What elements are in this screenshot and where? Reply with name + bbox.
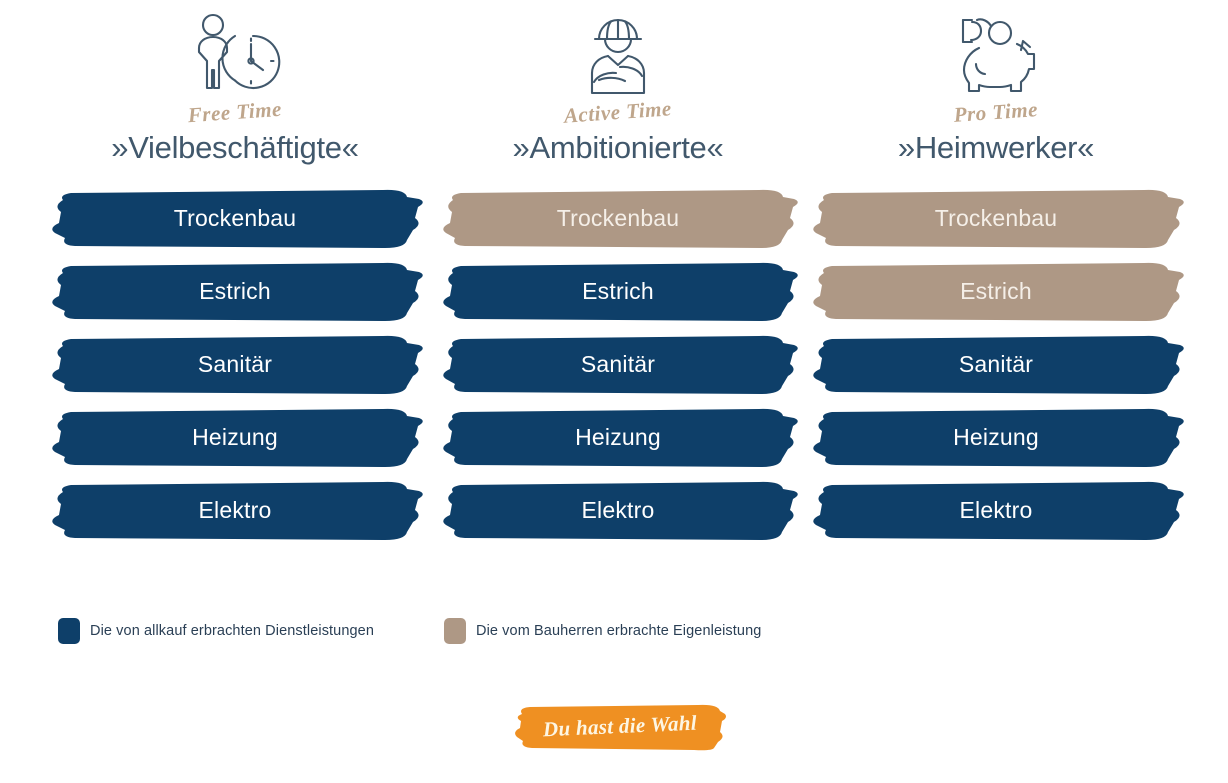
service-bar[interactable]: Heizung [437,407,799,470]
service-bar[interactable]: Estrich [45,261,425,324]
service-bar-label: Heizung [806,407,1186,470]
service-bar-label: Sanitär [437,334,799,397]
service-bar[interactable]: Sanitär [45,334,425,397]
service-bar-list: Trockenbau Estrich Sanitär Heizung Elekt… [45,188,425,543]
service-bar[interactable]: Trockenbau [45,188,425,251]
column-header: Free Time »Vielbeschäftigte« [45,0,425,188]
service-bar-label: Trockenbau [45,188,425,251]
construction-worker-icon [437,0,799,100]
service-bar-label: Estrich [437,261,799,324]
service-bar[interactable]: Elektro [437,480,799,543]
service-bar-label: Estrich [45,261,425,324]
legend: Die von allkauf erbrachten Dienstleistun… [0,615,1228,660]
service-bar[interactable]: Heizung [45,407,425,470]
service-bar[interactable]: Sanitär [806,334,1186,397]
service-bar-label: Sanitär [45,334,425,397]
persona-column-vielbeschaeftigte: Free Time »Vielbeschäftigte« Trockenbau … [45,0,425,553]
piggy-bank-icon [806,0,1186,100]
persona-column-ambitionierte: Active Time »Ambitionierte« Trockenbau E… [437,0,799,553]
service-bar-label: Heizung [45,407,425,470]
badge-label: Du hast die Wahl [511,699,729,756]
service-bar-label: Sanitär [806,334,1186,397]
service-bar[interactable]: Elektro [45,480,425,543]
service-bar-label: Elektro [45,480,425,543]
column-header: Pro Time »Heimwerker« [806,0,1186,188]
service-bar-label: Trockenbau [437,188,799,251]
service-bar-label: Elektro [806,480,1186,543]
service-bar-label: Estrich [806,261,1186,324]
persona-column-heimwerker: Pro Time »Heimwerker« Trockenbau Estrich… [806,0,1186,553]
legend-label: Die von allkauf erbrachten Dienstleistun… [90,623,374,639]
service-bar-label: Elektro [437,480,799,543]
service-bar[interactable]: Sanitär [437,334,799,397]
persona-columns: Free Time »Vielbeschäftigte« Trockenbau … [0,0,1228,600]
person-with-clock-icon [45,0,425,100]
service-bar-label: Heizung [437,407,799,470]
legend-item: Die vom Bauherren erbrachte Eigenleistun… [444,618,761,644]
service-bar[interactable]: Estrich [437,261,799,324]
service-bar[interactable]: Estrich [806,261,1186,324]
service-bar-list: Trockenbau Estrich Sanitär Heizung Elekt… [806,188,1186,543]
service-bar-list: Trockenbau Estrich Sanitär Heizung Elekt… [437,188,799,543]
call-to-action-badge[interactable]: Du hast die Wahl [512,704,728,752]
service-bar-label: Trockenbau [806,188,1186,251]
service-bar[interactable]: Trockenbau [806,188,1186,251]
legend-item: Die von allkauf erbrachten Dienstleistun… [58,618,374,644]
column-header: Active Time »Ambitionierte« [437,0,799,188]
service-bar[interactable]: Heizung [806,407,1186,470]
legend-swatch-tan [444,618,466,644]
service-bar[interactable]: Trockenbau [437,188,799,251]
service-bar[interactable]: Elektro [806,480,1186,543]
legend-swatch-blue [58,618,80,644]
legend-label: Die vom Bauherren erbrachte Eigenleistun… [476,623,761,639]
